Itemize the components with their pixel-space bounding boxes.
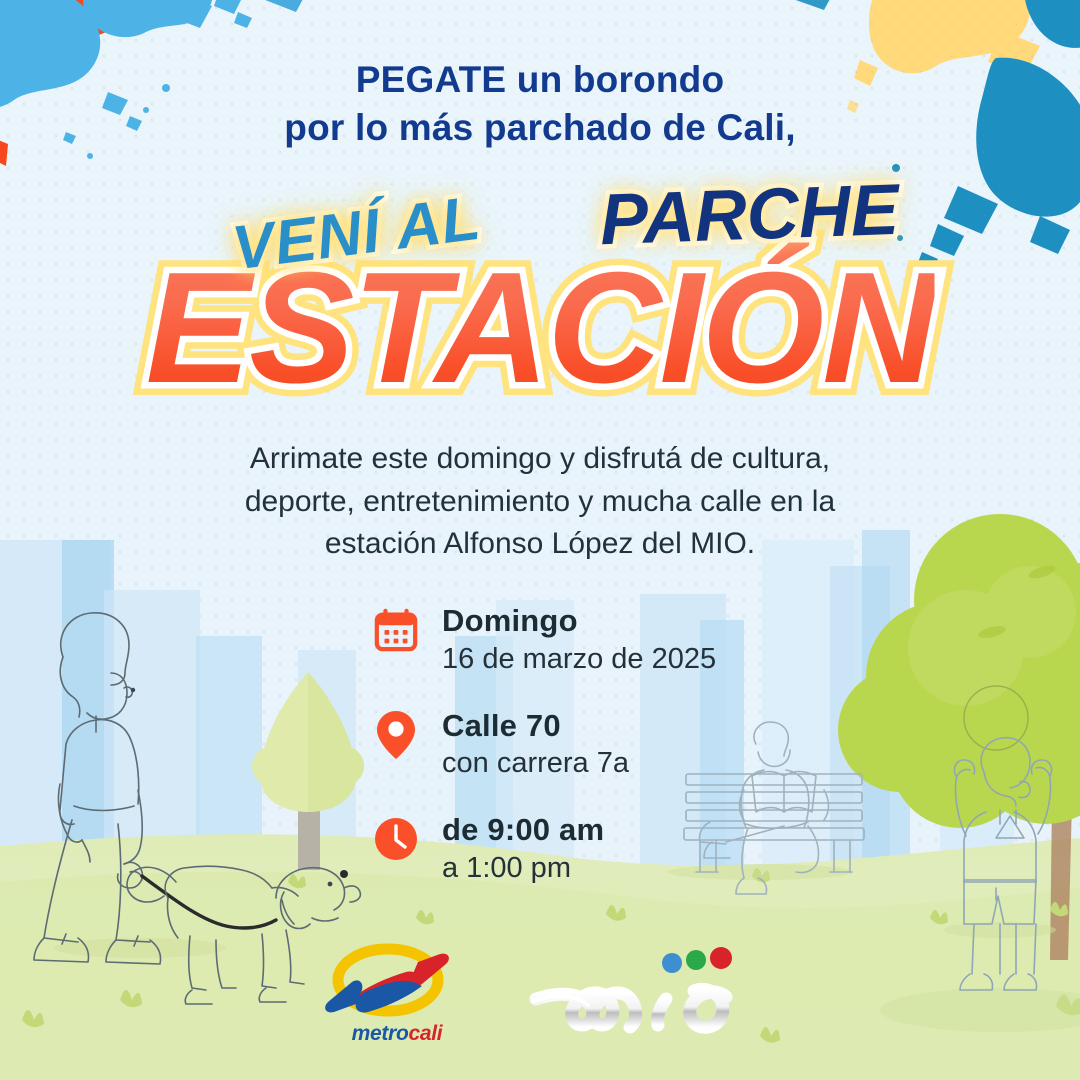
kicker-line-1: PEGATE un borondo: [0, 56, 1080, 104]
calendar-icon: [372, 604, 420, 656]
logo-row: metrocali: [0, 938, 1080, 1048]
detail-text-date: Domingo 16 de marzo de 2025: [442, 604, 716, 677]
event-details-list: Domingo 16 de marzo de 2025 Calle 70 con…: [372, 604, 716, 886]
detail-row-date: Domingo 16 de marzo de 2025: [372, 604, 716, 677]
detail-primary-date: Domingo: [442, 604, 716, 639]
detail-text-location: Calle 70 con carrera 7a: [442, 709, 629, 782]
metrocali-logo: metrocali: [322, 940, 472, 1046]
detail-row-location: Calle 70 con carrera 7a: [372, 709, 716, 782]
body-line-3: estación Alfonso López del MIO.: [190, 523, 890, 566]
metrocali-word-cali: cali: [409, 1022, 443, 1045]
detail-secondary-time: a 1:00 pm: [442, 851, 604, 886]
detail-text-time: de 9:00 am a 1:00 pm: [442, 813, 604, 886]
detail-secondary-date: 16 de marzo de 2025: [442, 642, 716, 677]
metrocali-mark: [322, 940, 472, 1024]
body-line-2: deporte, entretenimiento y mucha calle e…: [190, 481, 890, 524]
body-copy: Arrimate este domingo y disfrutá de cult…: [190, 438, 890, 566]
metrocali-wordmark: metrocali: [322, 1022, 472, 1046]
detail-primary-location: Calle 70: [442, 709, 629, 744]
kicker-heading: PEGATE un borondo por lo más parchado de…: [0, 56, 1080, 152]
metrocali-word-metro: metro: [352, 1022, 409, 1045]
mio-mark: [526, 943, 758, 1043]
title-lockup: ESTACIÓN ESTACIÓN ESTACIÓN VENÍ AL PARCH…: [0, 178, 1080, 428]
kicker-line-2: por lo más parchado de Cali,: [0, 104, 1080, 152]
detail-secondary-location: con carrera 7a: [442, 746, 629, 781]
location-pin-icon: [372, 709, 420, 761]
poster-canvas: PEGATE un borondo por lo más parchado de…: [0, 0, 1080, 1080]
clock-icon: [372, 813, 420, 865]
detail-primary-time: de 9:00 am: [442, 813, 604, 848]
mio-logo: [526, 943, 758, 1043]
body-line-1: Arrimate este domingo y disfrutá de cult…: [190, 438, 890, 481]
detail-row-time: de 9:00 am a 1:00 pm: [372, 813, 716, 886]
title-parche: PARCHE: [599, 169, 900, 261]
